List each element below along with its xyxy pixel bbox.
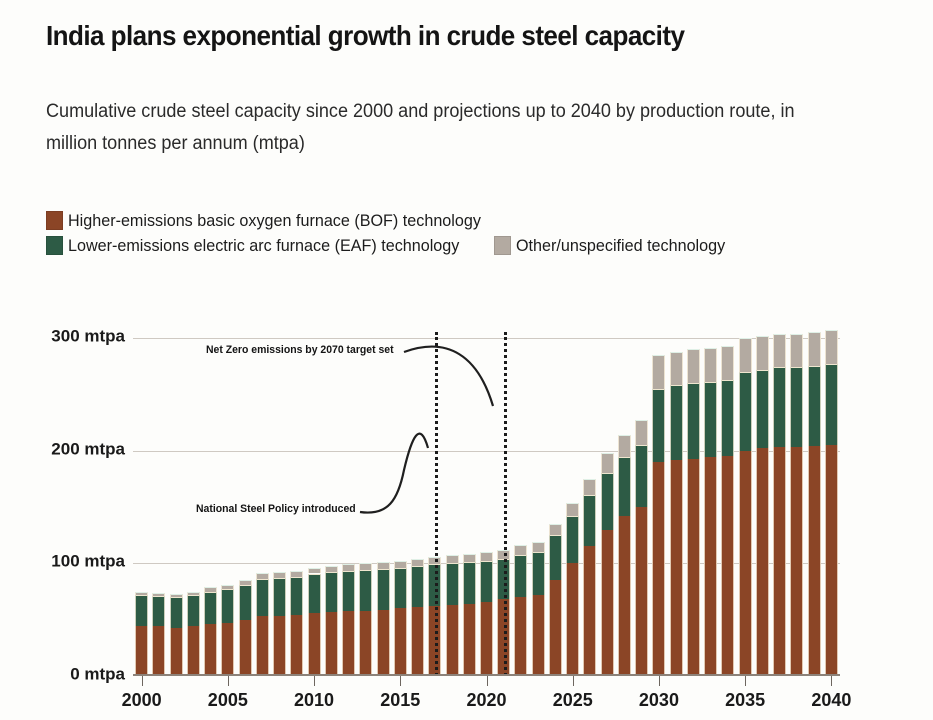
- bar-segment-bof: [756, 448, 769, 676]
- bar-segment-other: [135, 592, 148, 595]
- bar-segment-other: [463, 554, 476, 562]
- bar-segment-bof: [135, 626, 148, 676]
- bar-group[interactable]: [704, 338, 717, 676]
- bar-segment-other: [152, 593, 165, 596]
- bar-segment-eaf: [221, 589, 234, 623]
- bar-group[interactable]: [549, 338, 562, 676]
- bar-segment-other: [739, 338, 752, 372]
- x-axis-tick-2005: [228, 676, 229, 686]
- bar-segment-bof: [204, 624, 217, 676]
- y-axis-tick-label-0: 0 mtpa: [70, 664, 125, 684]
- bar-segment-eaf: [377, 569, 390, 610]
- bar-group[interactable]: [532, 338, 545, 676]
- bar-group[interactable]: [135, 338, 148, 676]
- bar-segment-other: [256, 573, 269, 579]
- bar-segment-eaf: [152, 596, 165, 626]
- bar-segment-bof: [480, 602, 493, 676]
- bar-segment-other: [773, 334, 786, 368]
- x-axis-tick-2025: [573, 676, 574, 686]
- legend-swatch-eaf: [46, 236, 63, 255]
- bar-segment-other: [221, 585, 234, 590]
- bar-segment-eaf: [635, 445, 648, 507]
- bar-group[interactable]: [514, 338, 527, 676]
- bar-segment-bof: [290, 615, 303, 676]
- bar-group[interactable]: [670, 338, 683, 676]
- bar-group[interactable]: [825, 338, 838, 676]
- bar-segment-bof: [773, 447, 786, 676]
- bar-segment-other: [204, 587, 217, 592]
- y-axis-tick-label-300: 300 mtpa: [51, 326, 125, 346]
- bar-segment-bof: [549, 580, 562, 676]
- bar-segment-bof: [514, 597, 527, 676]
- bar-segment-eaf: [583, 495, 596, 547]
- bar-segment-other: [342, 564, 355, 571]
- y-axis-tick-label-200: 200 mtpa: [51, 439, 125, 459]
- event-line-net-zero: [504, 332, 507, 676]
- bar-segment-other: [170, 594, 183, 597]
- bar-segment-other: [411, 559, 424, 566]
- legend-row-1: Higher-emissions basic oxygen furnace (B…: [46, 208, 846, 233]
- x-axis-tick-2035: [745, 676, 746, 686]
- bar-group[interactable]: [601, 338, 614, 676]
- bar-segment-bof: [325, 612, 338, 676]
- bar-group[interactable]: [463, 338, 476, 676]
- bar-segment-other: [566, 503, 579, 517]
- bar-segment-other: [790, 334, 803, 368]
- legend-label-eaf: Lower-emissions electric arc furnace (EA…: [68, 236, 459, 256]
- bar-segment-bof: [187, 626, 200, 676]
- bar-segment-eaf: [359, 570, 372, 611]
- bar-segment-bof: [221, 623, 234, 676]
- bar-segment-eaf: [549, 535, 562, 580]
- bar-segment-eaf: [790, 367, 803, 447]
- bar-segment-other: [308, 568, 321, 574]
- bar-segment-eaf: [239, 585, 252, 620]
- bar-group[interactable]: [411, 338, 424, 676]
- x-axis-tick-label-2020: 2020: [466, 690, 506, 711]
- legend-item-eaf[interactable]: Lower-emissions electric arc furnace (EA…: [46, 236, 480, 256]
- bar-segment-other: [239, 580, 252, 585]
- bar-group[interactable]: [583, 338, 596, 676]
- bar-group[interactable]: [687, 338, 700, 676]
- bar-segment-other: [583, 479, 596, 495]
- bar-segment-bof: [377, 610, 390, 676]
- bar-segment-other: [721, 346, 734, 380]
- legend-item-bof[interactable]: Higher-emissions basic oxygen furnace (B…: [46, 211, 503, 231]
- bar-segment-bof: [739, 451, 752, 676]
- bar-segment-eaf: [532, 552, 545, 595]
- bar-segment-other: [549, 524, 562, 535]
- bar-segment-other: [532, 542, 545, 552]
- bar-segment-bof: [808, 446, 821, 676]
- bar-group[interactable]: [152, 338, 165, 676]
- legend-item-other[interactable]: Other/unspecified technology: [494, 236, 736, 256]
- bar-segment-eaf: [394, 568, 407, 609]
- bar-segment-eaf: [411, 566, 424, 608]
- bar-segment-other: [480, 552, 493, 561]
- annotation-national-steel-policy: National Steel Policy introduced: [196, 503, 356, 515]
- x-axis-tick-label-2010: 2010: [294, 690, 334, 711]
- bar-group[interactable]: [756, 338, 769, 676]
- bar-segment-eaf: [256, 579, 269, 616]
- bar-segment-bof: [446, 605, 459, 676]
- bar-segment-other: [187, 592, 200, 595]
- bar-segment-bof: [170, 628, 183, 676]
- bar-segment-eaf: [618, 457, 631, 516]
- bar-segment-eaf: [756, 370, 769, 449]
- bar-group[interactable]: [566, 338, 579, 676]
- x-axis-tick-label-2035: 2035: [725, 690, 765, 711]
- x-axis-tick-label-2040: 2040: [811, 690, 851, 711]
- bar-group[interactable]: [377, 338, 390, 676]
- bar-group[interactable]: [739, 338, 752, 676]
- x-axis-tick-2015: [400, 676, 401, 686]
- bar-segment-eaf: [808, 366, 821, 446]
- bar-segment-bof: [790, 447, 803, 676]
- bar-group[interactable]: [790, 338, 803, 676]
- bar-segment-eaf: [170, 597, 183, 627]
- legend-label-bof: Higher-emissions basic oxygen furnace (B…: [68, 211, 481, 231]
- bar-segment-bof: [652, 462, 665, 676]
- bar-segment-other: [825, 330, 838, 364]
- x-axis-tick-label-2025: 2025: [553, 690, 593, 711]
- bar-group[interactable]: [618, 338, 631, 676]
- bar-segment-eaf: [773, 367, 786, 447]
- bar-segment-other: [273, 572, 286, 578]
- bar-segment-bof: [704, 457, 717, 676]
- legend-swatch-bof: [46, 211, 63, 230]
- bar-segment-eaf: [187, 595, 200, 627]
- bar-segment-other: [652, 355, 665, 389]
- x-axis-tick-2020: [487, 676, 488, 686]
- bar-segment-eaf: [670, 385, 683, 459]
- bar-segment-eaf: [704, 382, 717, 457]
- bar-segment-bof: [239, 620, 252, 676]
- x-axis-tick-label-2000: 2000: [122, 690, 162, 711]
- bar-segment-bof: [359, 611, 372, 676]
- bar-group[interactable]: [773, 338, 786, 676]
- bar-segment-bof: [342, 611, 355, 676]
- annotation-net-zero: Net Zero emissions by 2070 target set: [206, 344, 394, 356]
- bar-segment-bof: [583, 546, 596, 676]
- bar-segment-bof: [721, 456, 734, 676]
- x-axis-tick-label-2015: 2015: [380, 690, 420, 711]
- bar-group[interactable]: [721, 338, 734, 676]
- legend-label-other: Other/unspecified technology: [516, 236, 725, 256]
- bar-segment-eaf: [601, 473, 614, 529]
- bar-segment-bof: [618, 516, 631, 676]
- x-axis-tick-label-2005: 2005: [208, 690, 248, 711]
- bar-segment-eaf: [825, 364, 838, 445]
- bar-segment-bof: [670, 460, 683, 676]
- x-axis-tick-label-2030: 2030: [639, 690, 679, 711]
- bar-segment-eaf: [566, 516, 579, 563]
- bar-segment-eaf: [290, 577, 303, 615]
- bar-segment-eaf: [342, 571, 355, 610]
- chart-subtitle: Cumulative crude steel capacity since 20…: [46, 96, 797, 160]
- bar-segment-other: [687, 349, 700, 383]
- bar-segment-bof: [532, 595, 545, 676]
- x-axis-tick-2000: [142, 676, 143, 686]
- x-axis-tick-2030: [659, 676, 660, 686]
- bar-segment-other: [704, 348, 717, 382]
- bar-group[interactable]: [170, 338, 183, 676]
- y-axis-tick-label-100: 100 mtpa: [51, 552, 125, 572]
- bar-segment-other: [670, 352, 683, 386]
- page-title: India plans exponential growth in crude …: [46, 20, 827, 52]
- bar-segment-eaf: [135, 595, 148, 627]
- bar-segment-eaf: [480, 561, 493, 602]
- bar-segment-bof: [152, 626, 165, 676]
- bar-group[interactable]: [808, 338, 821, 676]
- bar-segment-eaf: [739, 372, 752, 451]
- bar-segment-eaf: [514, 555, 527, 597]
- chart-legend: Higher-emissions basic oxygen furnace (B…: [46, 208, 846, 258]
- x-axis: 200020052010201520202025203020352040: [133, 676, 840, 720]
- bar-segment-bof: [825, 445, 838, 676]
- bar-segment-bof: [308, 613, 321, 676]
- bar-segment-other: [808, 332, 821, 366]
- bar-segment-bof: [394, 608, 407, 676]
- bar-segment-other: [601, 453, 614, 473]
- bar-segment-bof: [411, 607, 424, 676]
- bar-group[interactable]: [652, 338, 665, 676]
- bar-segment-bof: [256, 616, 269, 676]
- bar-group[interactable]: [480, 338, 493, 676]
- event-line-national-steel-policy: [435, 332, 438, 676]
- bar-segment-eaf: [273, 578, 286, 616]
- bar-group[interactable]: [446, 338, 459, 676]
- bar-segment-other: [756, 336, 769, 370]
- bar-group[interactable]: [635, 338, 648, 676]
- chart-page: India plans exponential growth in crude …: [0, 0, 933, 720]
- bar-segment-eaf: [721, 380, 734, 457]
- bar-segment-other: [290, 571, 303, 577]
- bar-segment-other: [377, 562, 390, 569]
- bar-segment-eaf: [308, 574, 321, 613]
- bar-segment-other: [446, 555, 459, 563]
- legend-swatch-other: [494, 236, 511, 255]
- bar-segment-bof: [635, 507, 648, 676]
- bar-segment-bof: [601, 530, 614, 676]
- bar-segment-other: [394, 561, 407, 568]
- bar-segment-bof: [687, 459, 700, 676]
- bar-group[interactable]: [394, 338, 407, 676]
- bar-segment-bof: [566, 563, 579, 676]
- x-axis-tick-2040: [831, 676, 832, 686]
- legend-row-2: Lower-emissions electric arc furnace (EA…: [46, 233, 846, 258]
- bar-segment-other: [618, 435, 631, 458]
- bar-segment-other: [325, 566, 338, 573]
- bar-segment-eaf: [463, 562, 476, 604]
- bar-segment-eaf: [204, 592, 217, 625]
- bar-segment-eaf: [687, 383, 700, 458]
- bar-segment-eaf: [325, 572, 338, 611]
- bar-segment-bof: [273, 616, 286, 676]
- bar-segment-other: [514, 545, 527, 555]
- bar-segment-bof: [463, 604, 476, 676]
- bar-segment-other: [635, 420, 648, 445]
- bar-segment-eaf: [652, 389, 665, 462]
- bar-group[interactable]: [359, 338, 372, 676]
- bar-segment-other: [359, 563, 372, 570]
- bar-segment-eaf: [446, 563, 459, 605]
- x-axis-tick-2010: [314, 676, 315, 686]
